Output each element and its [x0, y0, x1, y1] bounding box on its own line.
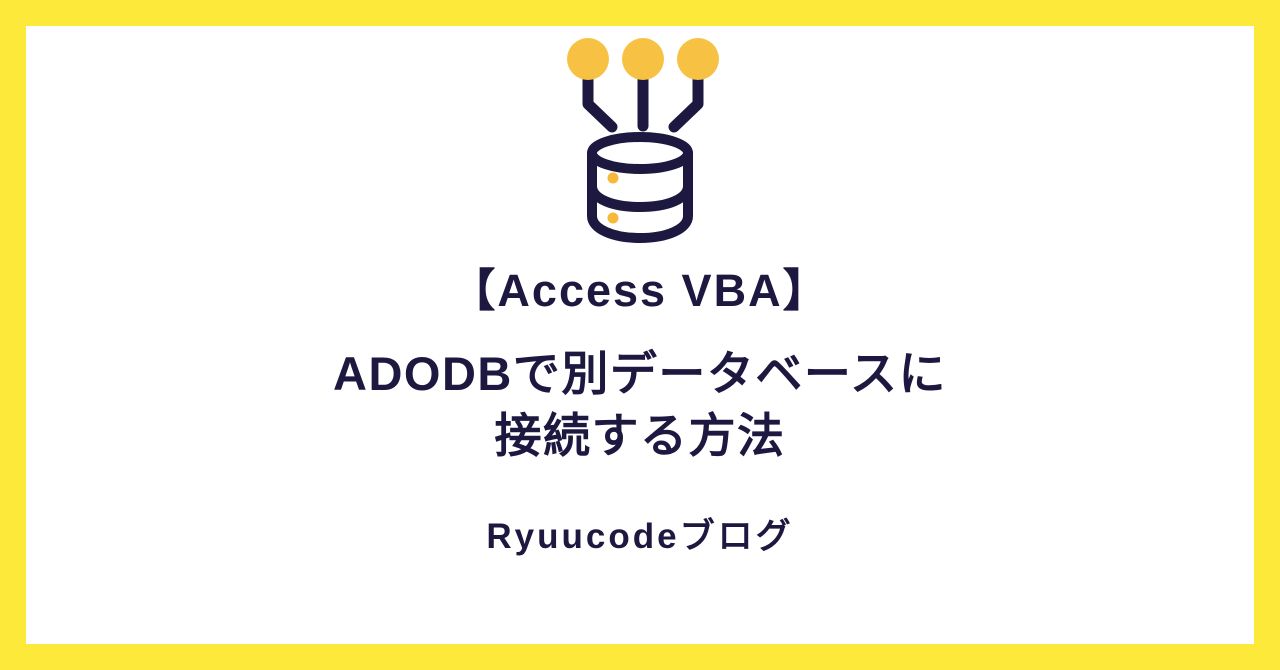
database-status-dot-lower-icon	[608, 213, 619, 224]
database-cylinder-icon	[592, 137, 688, 238]
pin-head-center-icon	[622, 38, 664, 80]
pin-head-left-icon	[567, 38, 609, 80]
database-status-dot-upper-icon	[608, 173, 619, 184]
page-title-line-2: 接続する方法	[333, 405, 947, 467]
eyecatch-image: 【Access VBA】 ADODBで別データベースに 接続する方法 Ryuuc…	[0, 0, 1280, 670]
blog-name: Ryuucodeブログ	[486, 519, 793, 554]
page-title-category: 【Access VBA】	[450, 268, 829, 313]
pin-head-right-icon	[677, 38, 719, 80]
page-title: ADODBで別データベースに 接続する方法	[333, 343, 947, 467]
white-card: 【Access VBA】 ADODBで別データベースに 接続する方法 Ryuuc…	[26, 26, 1254, 644]
title-block: 【Access VBA】 ADODBで別データベースに 接続する方法 Ryuuc…	[26, 252, 1254, 554]
database-connection-icon	[550, 26, 730, 252]
page-title-line-1: ADODBで別データベースに	[333, 347, 947, 400]
